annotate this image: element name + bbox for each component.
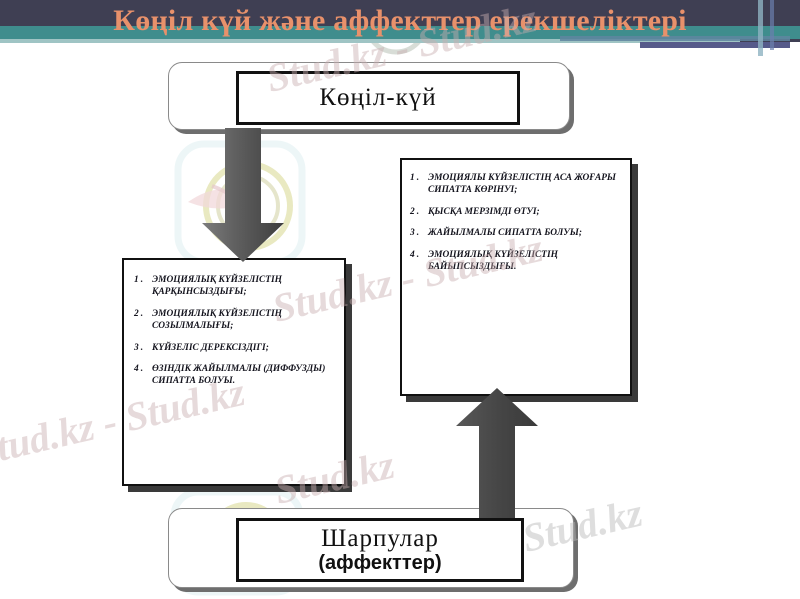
list-item: 3. ЖАЙЫЛМАЛЫ СИПАТТА БОЛУЫ; [410,227,618,239]
mood-characteristics-box[interactable]: 1. ЭМОЦИЯЛЫҚ КҮЙЗЕЛІСТІҢ ҚАРҚЫНСЫЗДЫҒЫ; … [122,258,346,486]
list-item-number: 2. [134,308,152,333]
list-item: 2. ЭМОЦИЯЛЫҚ КҮЙЗЕЛІСТІҢ СОЗЫЛМАЛЫҒЫ; [134,308,332,333]
list-item-number: 3. [410,227,428,239]
list-item-text: ЭМОЦИЯЛЫҚ КҮЙЗЕЛІСТІҢ СОЗЫЛМАЛЫҒЫ; [152,308,332,333]
list-item-text: ЖАЙЫЛМАЛЫ СИПАТТА БОЛУЫ; [428,227,618,239]
header-accent-bar-lower [640,42,790,48]
list-item: 4. ЭМОЦИЯЛЫҚ КҮЙЗЕЛІСТІҢ БАЙЫПСЫЗДЫҒЫ. [410,249,618,274]
list-item: 1. ЭМОЦИЯЛЫҚ КҮЙЗЕЛІСТІҢ ҚАРҚЫНСЫЗДЫҒЫ; [134,274,332,299]
affect-characteristics-list: 1. ЭМОЦИЯЛЫ КҮЙЗЕЛІСТІҢ АСА ЖОҒАРЫ СИПАТ… [410,172,618,273]
mood-box[interactable]: Көңіл-күй [236,71,520,125]
affect-characteristics-box[interactable]: 1. ЭМОЦИЯЛЫ КҮЙЗЕЛІСТІҢ АСА ЖОҒАРЫ СИПАТ… [400,158,632,396]
list-item-number: 2. [410,206,428,218]
affect-box-label-main: Шарпулар [321,525,439,553]
page-title: Көңіл күй және аффекттер ерекшеліктері [0,1,800,41]
list-item-number: 1. [410,172,428,197]
list-item: 4. ӨЗІНДІК ЖАЙЫЛМАЛЫ (ДИФФУЗДЫ) СИПАТТА … [134,363,332,388]
list-item-text: ЭМОЦИЯЛЫ КҮЙЗЕЛІСТІҢ АСА ЖОҒАРЫ СИПАТТА … [428,172,618,197]
mood-box-label: Көңіл-күй [319,84,436,112]
list-item-text: ЭМОЦИЯЛЫҚ КҮЙЗЕЛІСТІҢ БАЙЫПСЫЗДЫҒЫ. [428,249,618,274]
list-item-text: ӨЗІНДІК ЖАЙЫЛМАЛЫ (ДИФФУЗДЫ) СИПАТТА БОЛ… [152,363,332,388]
list-item-text: КҮЙЗЕЛІС ДЕРЕКСІЗДІГІ; [152,342,332,354]
list-item-number: 3. [134,342,152,354]
list-item: 2. ҚЫСҚА МЕРЗІМДІ ӨТУІ; [410,206,618,218]
affect-box[interactable]: Шарпулар (аффекттер) [236,518,524,582]
list-item-text: ҚЫСҚА МЕРЗІМДІ ӨТУІ; [428,206,618,218]
mood-characteristics-list: 1. ЭМОЦИЯЛЫҚ КҮЙЗЕЛІСТІҢ ҚАРҚЫНСЫЗДЫҒЫ; … [134,274,332,388]
list-item-text: ЭМОЦИЯЛЫҚ КҮЙЗЕЛІСТІҢ ҚАРҚЫНСЫЗДЫҒЫ; [152,274,332,299]
list-item-number: 1. [134,274,152,299]
list-item: 1. ЭМОЦИЯЛЫ КҮЙЗЕЛІСТІҢ АСА ЖОҒАРЫ СИПАТ… [410,172,618,197]
list-item: 3. КҮЙЗЕЛІС ДЕРЕКСІЗДІГІ; [134,342,332,354]
affect-box-label-sub: (аффекттер) [318,552,441,575]
list-item-number: 4. [410,249,428,274]
arrow-up-from-affects [452,388,542,518]
arrow-down-from-mood [198,128,288,263]
list-item-number: 4. [134,363,152,388]
